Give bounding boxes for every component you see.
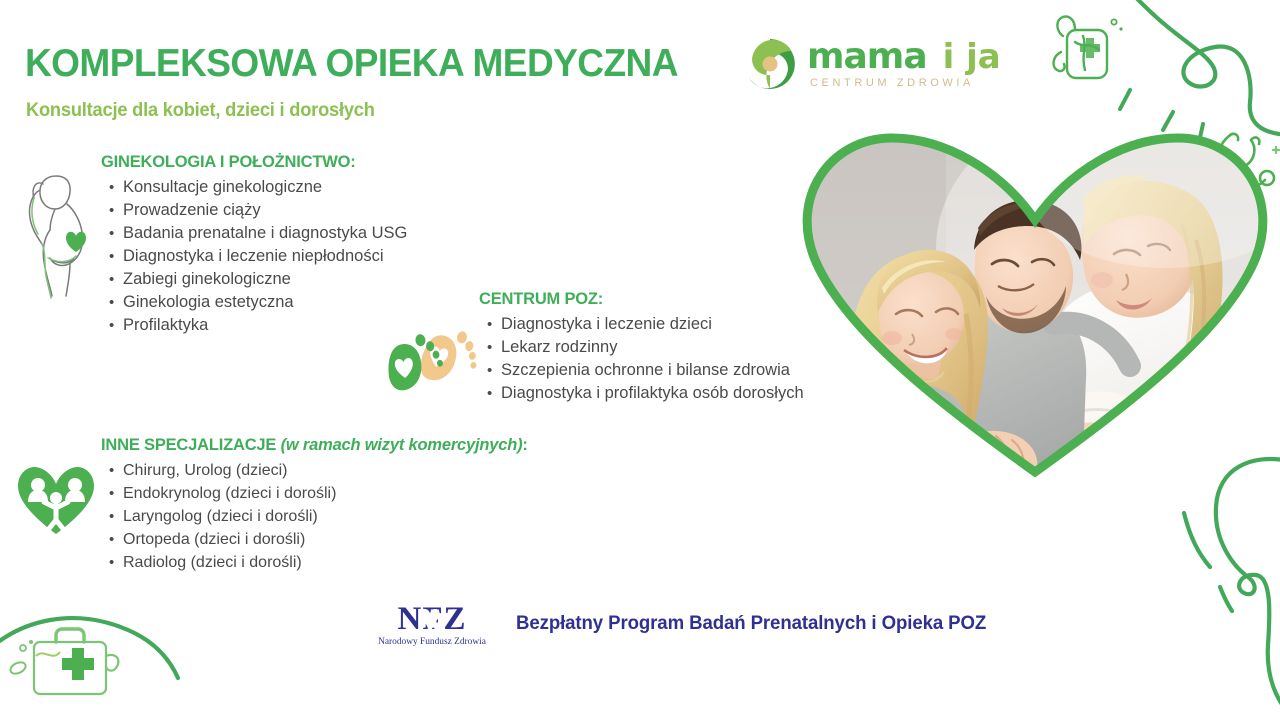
- green-cross-icon: [1080, 38, 1100, 58]
- section-list: Chirurg, Urolog (dzieci) Endokrynolog (d…: [101, 459, 541, 574]
- section-ginekologia: GINEKOLOGIA I POŁOŻNICTWO: Konsultacje g…: [101, 152, 407, 337]
- section-heading-italic: (w ramach wizyt komercyjnych): [281, 435, 523, 454]
- swirl-circle-icon: [742, 36, 798, 92]
- list-item: Diagnostyka i profilaktyka osób dorosłyc…: [479, 382, 804, 405]
- section-heading: GINEKOLOGIA I POŁOŻNICTWO:: [101, 152, 398, 172]
- footer-banner-text: Bezpłatny Program Badań Prenatalnych i O…: [516, 613, 986, 635]
- brand-name-primary: mama: [807, 39, 927, 75]
- list-item: Laryngolog (dzieci i dorośli): [101, 505, 541, 528]
- section-heading-main: INNE SPECJALIZACJE: [101, 435, 281, 454]
- list-item: Endokrynolog (dzieci i dorośli): [101, 482, 541, 505]
- list-item: Diagnostyka i leczenie dzieci: [479, 313, 804, 336]
- page-subtitle: Konsultacje dla kobiet, dzieci i dorosły…: [26, 100, 375, 122]
- brand-tagline: CENTRUM ZDROWIA: [810, 78, 1001, 89]
- section-list: Konsultacje ginekologiczne Prowadzenie c…: [101, 176, 407, 337]
- list-item: Konsultacje ginekologiczne: [101, 176, 407, 199]
- list-item: Chirurg, Urolog (dzieci): [101, 459, 541, 482]
- family-photo-heart: [796, 128, 1274, 478]
- family-heart-icon: [14, 460, 99, 538]
- list-item: Szczepienia ochronne i bilanse zdrowia: [479, 359, 804, 382]
- bottom-left-decoration: [0, 600, 190, 720]
- brand-logo: mama i ja CENTRUM ZDROWIA: [742, 36, 1001, 92]
- section-list: Diagnostyka i leczenie dzieci Lekarz rod…: [479, 313, 804, 405]
- top-right-decoration: [1045, 0, 1280, 142]
- list-item: Radiolog (dzieci i dorośli): [101, 551, 541, 574]
- section-heading-suffix: :: [522, 435, 527, 454]
- section-centrum-poz: CENTRUM POZ: Diagnostyka i leczenie dzie…: [479, 289, 804, 405]
- page-title: KOMPLEKSOWA OPIEKA MEDYCZNA: [25, 42, 678, 86]
- list-item: Prowadzenie ciąży: [101, 199, 407, 222]
- list-item: Diagnostyka i leczenie niepłodności: [101, 245, 407, 268]
- section-inne-specjalizacje: INNE SPECJALIZACJE (w ramach wizyt komer…: [101, 435, 541, 574]
- list-item: Badania prenatalne i diagnostyka USG: [101, 222, 407, 245]
- first-aid-kit-icon: [9, 629, 119, 694]
- list-item: Ortopeda (dzieci i dorośli): [101, 528, 541, 551]
- list-item: Lekarz rodzinny: [479, 336, 804, 359]
- nfz-logo: NFZ Narodowy Fundusz Zdrowia: [371, 597, 493, 649]
- brand-name-secondary: i ja: [943, 40, 1001, 74]
- section-heading: INNE SPECJALIZACJE (w ramach wizyt komer…: [101, 435, 528, 455]
- heart-shape: [66, 232, 86, 252]
- list-item: Ginekologia estetyczna: [101, 291, 407, 314]
- poster-canvas: KOMPLEKSOWA OPIEKA MEDYCZNA Konsultacje …: [0, 0, 1280, 720]
- list-item: Zabiegi ginekologiczne: [101, 268, 407, 291]
- section-heading: CENTRUM POZ:: [479, 289, 794, 309]
- list-item: Profilaktyka: [101, 314, 407, 337]
- nfz-fullname: Narodowy Fundusz Zdrowia: [378, 637, 487, 647]
- pregnant-woman-icon: [12, 160, 107, 300]
